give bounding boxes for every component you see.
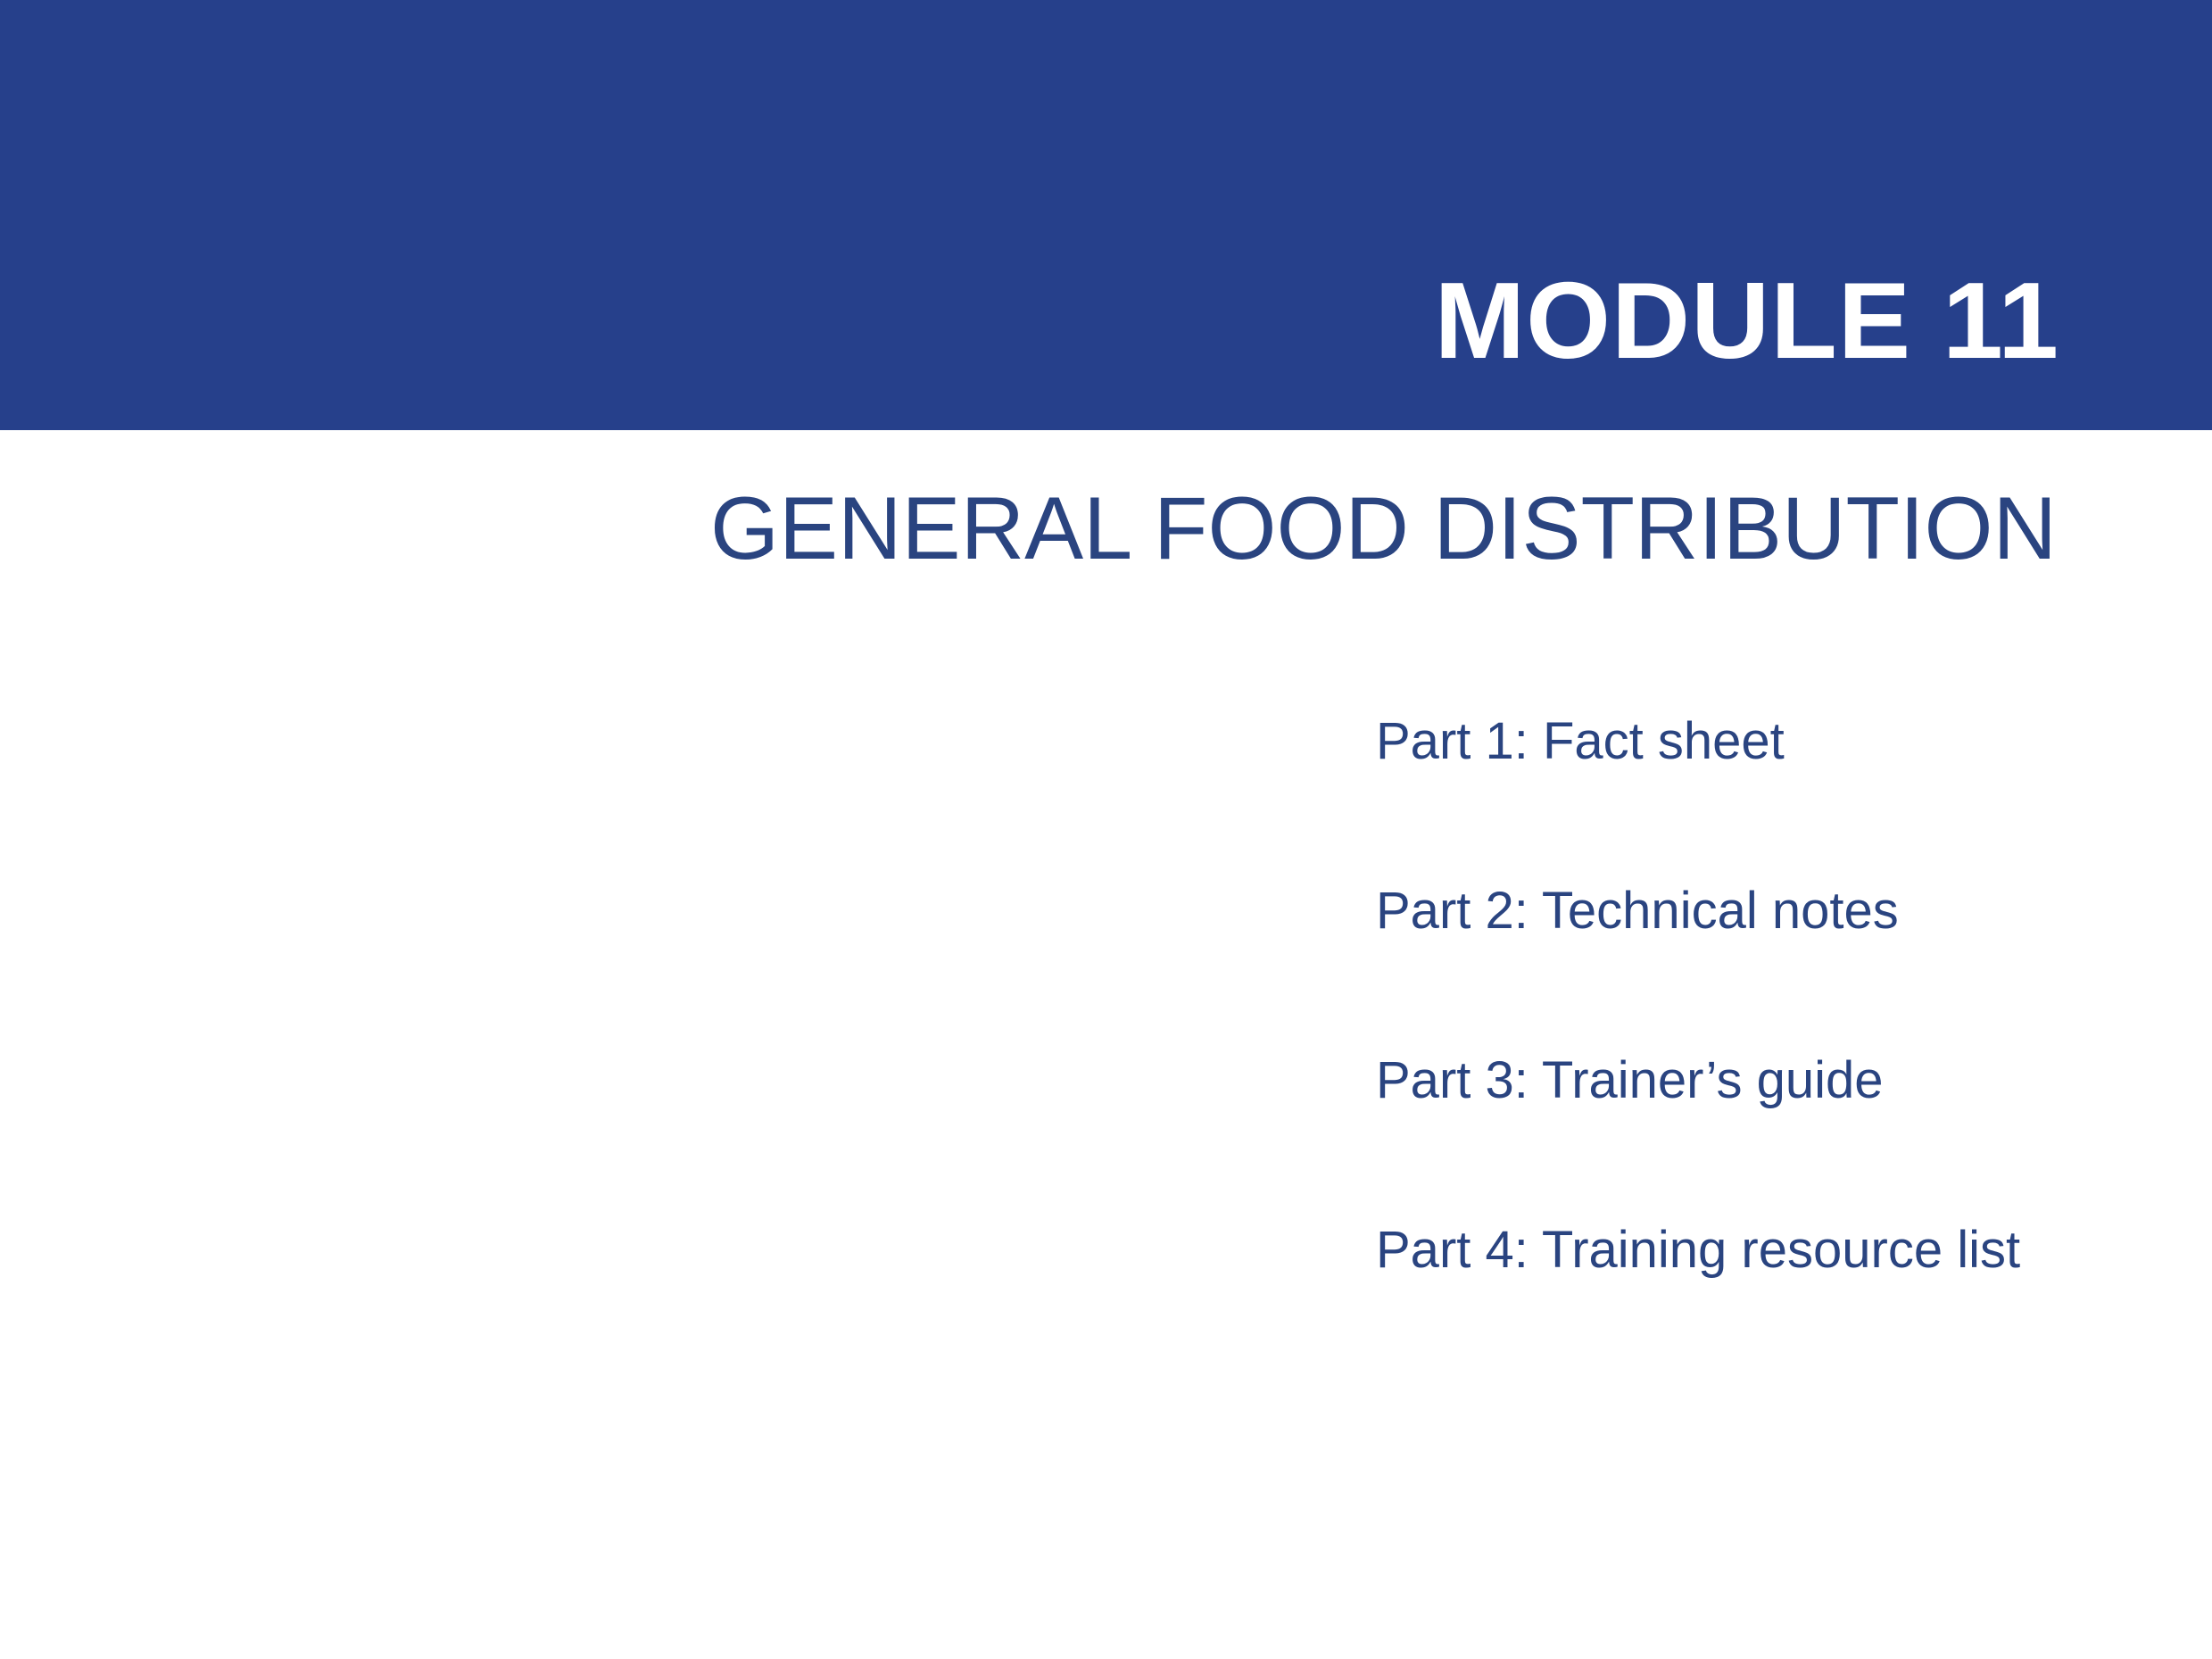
module-title: MODULE 11 — [1435, 266, 2060, 375]
list-item: Part 1: Fact sheet — [1376, 716, 2020, 767]
list-item: Part 2: Technical notes — [1376, 885, 2020, 937]
list-item: Part 3: Trainer’s guide — [1376, 1055, 2020, 1107]
title-banner: MODULE 11 — [0, 0, 2212, 430]
slide-subtitle: GENERAL FOOD DISTRIBUTION — [710, 480, 2057, 577]
slide-root: MODULE 11 GENERAL FOOD DISTRIBUTION Part… — [0, 0, 2212, 1659]
parts-list: Part 1: Fact sheet Part 2: Technical not… — [1376, 716, 2020, 1276]
list-item: Part 4: Training resource list — [1376, 1224, 2020, 1276]
